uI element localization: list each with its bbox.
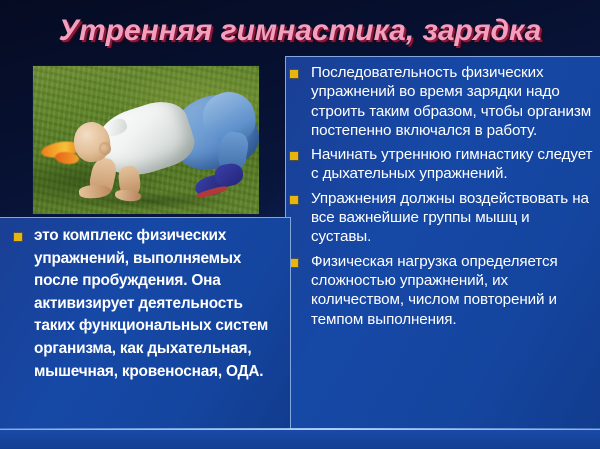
list-item: Физическая нагрузка определяется сложнос… — [286, 252, 593, 329]
bottom-band — [0, 430, 600, 449]
list-item: Упражнения должны воздействовать на все … — [286, 189, 593, 247]
square-bullet-icon — [290, 152, 298, 160]
left-content-panel: это комплекс физических упражнений, выпо… — [0, 217, 291, 430]
list-item-text: Последовательность физических упражнений… — [311, 63, 593, 140]
page-title: Утренняя гимнастика, зарядка — [0, 14, 600, 48]
square-bullet-icon — [290, 70, 298, 78]
list-item: Последовательность физических упражнений… — [286, 63, 593, 140]
left-bullet-list: это комплекс физических упражнений, выпо… — [0, 218, 290, 383]
square-bullet-icon — [14, 233, 22, 241]
list-item-text: это комплекс физических упражнений, выпо… — [34, 225, 284, 383]
child-figure — [33, 66, 259, 214]
list-item-text: Упражнения должны воздействовать на все … — [311, 189, 593, 247]
right-bullet-list: Последовательность физических упражнений… — [286, 57, 600, 329]
list-item: это комплекс физических упражнений, выпо… — [0, 225, 284, 383]
list-item: Начинать утреннюю гимнастику следует с д… — [286, 145, 593, 184]
right-content-panel: Последовательность физических упражнений… — [285, 56, 600, 430]
list-item-text: Начинать утреннюю гимнастику следует с д… — [311, 145, 593, 184]
square-bullet-icon — [290, 259, 298, 267]
square-bullet-icon — [290, 196, 298, 204]
presentation-slide: Утренняя гимнастика, зарядка — [0, 0, 600, 449]
list-item-text: Физическая нагрузка определяется сложнос… — [311, 252, 593, 329]
exercise-photo — [33, 66, 259, 214]
